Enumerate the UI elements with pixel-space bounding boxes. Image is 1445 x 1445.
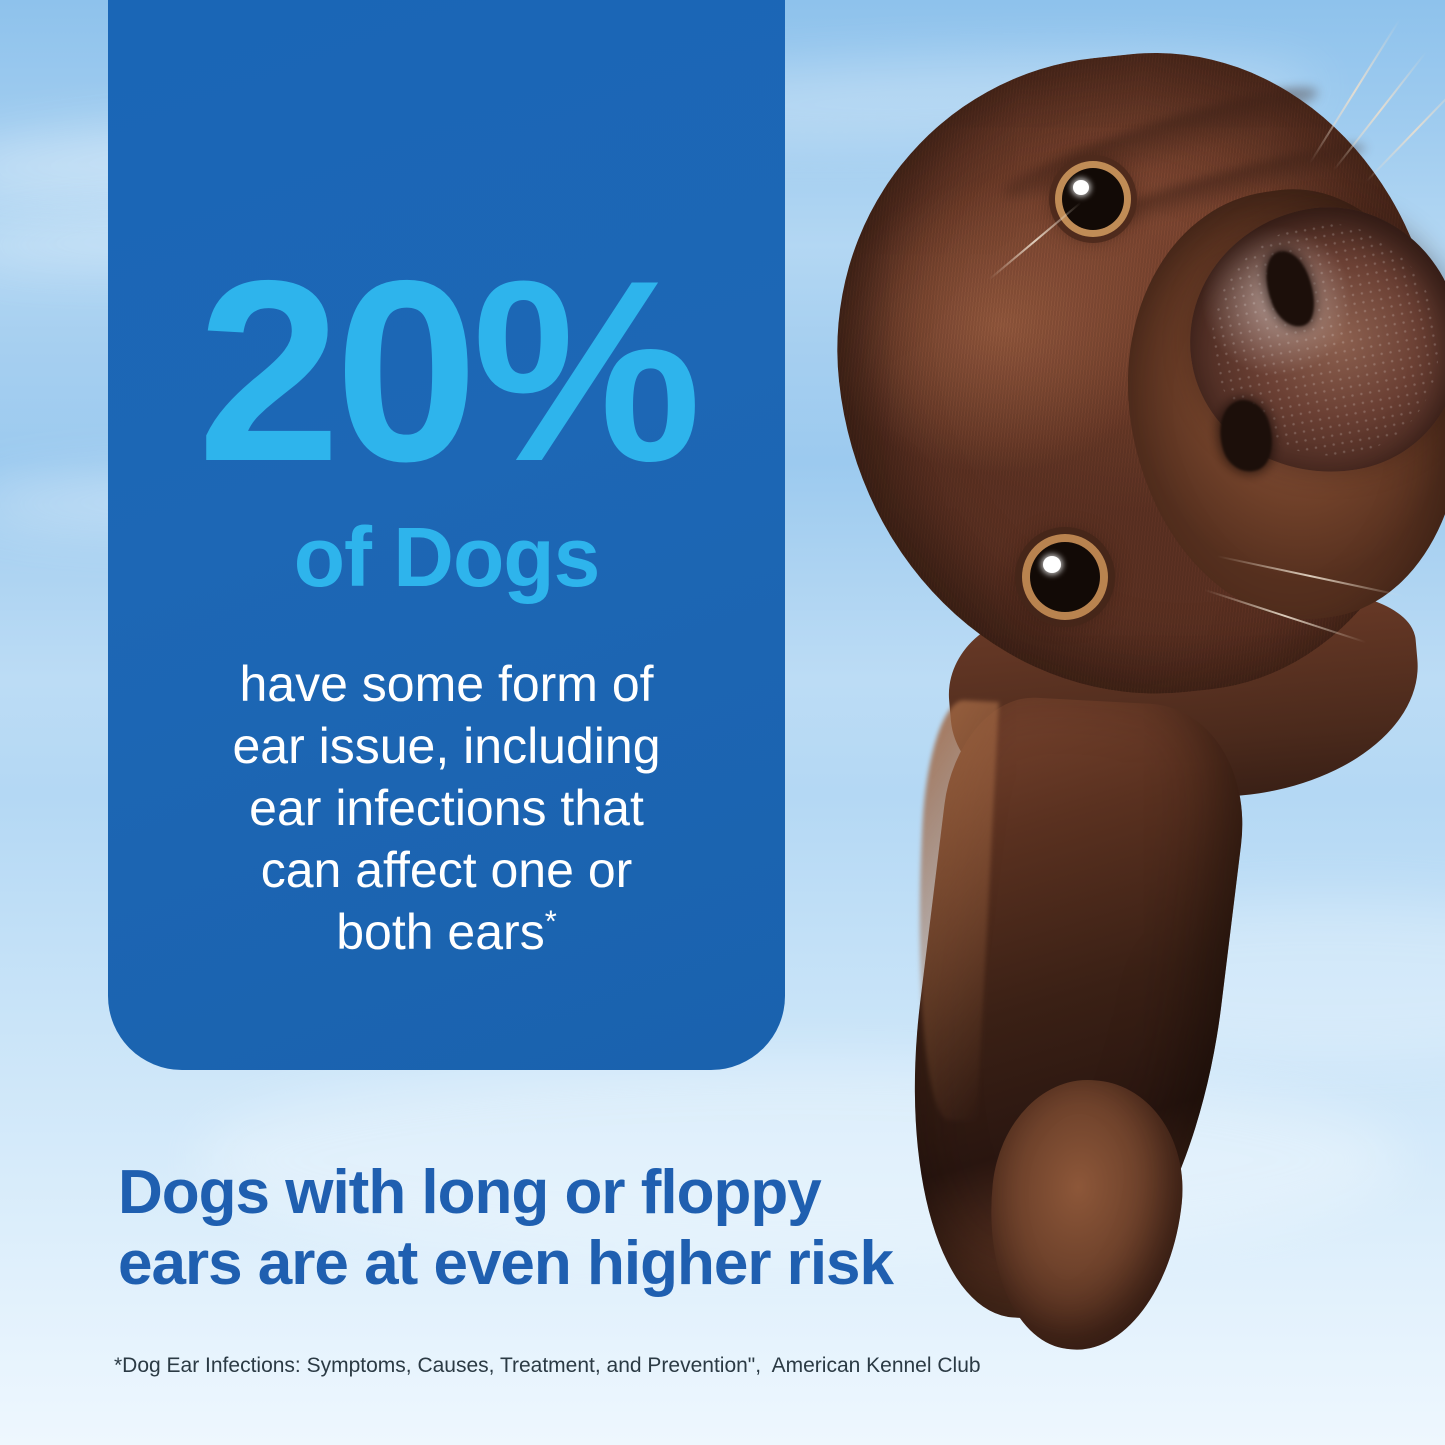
dog-eye-lower bbox=[1030, 542, 1100, 612]
dog-whisker bbox=[1366, 80, 1445, 182]
headline-line: ears are at even higher risk bbox=[118, 1229, 1068, 1300]
statistic-card: 20% of Dogs have some form of ear issue,… bbox=[108, 0, 785, 1070]
dog-eye-glint bbox=[1073, 180, 1089, 195]
body-line: ear infections that bbox=[232, 777, 660, 839]
headline-line: Dogs with long or floppy bbox=[118, 1158, 1068, 1229]
body-line: can affect one or bbox=[232, 839, 660, 901]
card-body-text: have some form of ear issue, including e… bbox=[232, 653, 660, 963]
bottom-headline: Dogs with long or floppy ears are at eve… bbox=[118, 1158, 1068, 1299]
dog-eye-glint bbox=[1043, 556, 1061, 573]
footnote-marker: * bbox=[545, 904, 557, 939]
dog-whisker bbox=[1333, 51, 1427, 170]
body-line: have some form of bbox=[232, 653, 660, 715]
source-footnote: *Dog Ear Infections: Symptoms, Causes, T… bbox=[114, 1352, 981, 1379]
stat-number: 20% bbox=[197, 270, 695, 471]
body-line-last: both ears* bbox=[232, 901, 660, 963]
body-line-text: both ears bbox=[336, 904, 544, 960]
stat-label: of Dogs bbox=[294, 515, 600, 599]
body-line: ear issue, including bbox=[232, 715, 660, 777]
dog-eye-upper bbox=[1062, 168, 1124, 230]
